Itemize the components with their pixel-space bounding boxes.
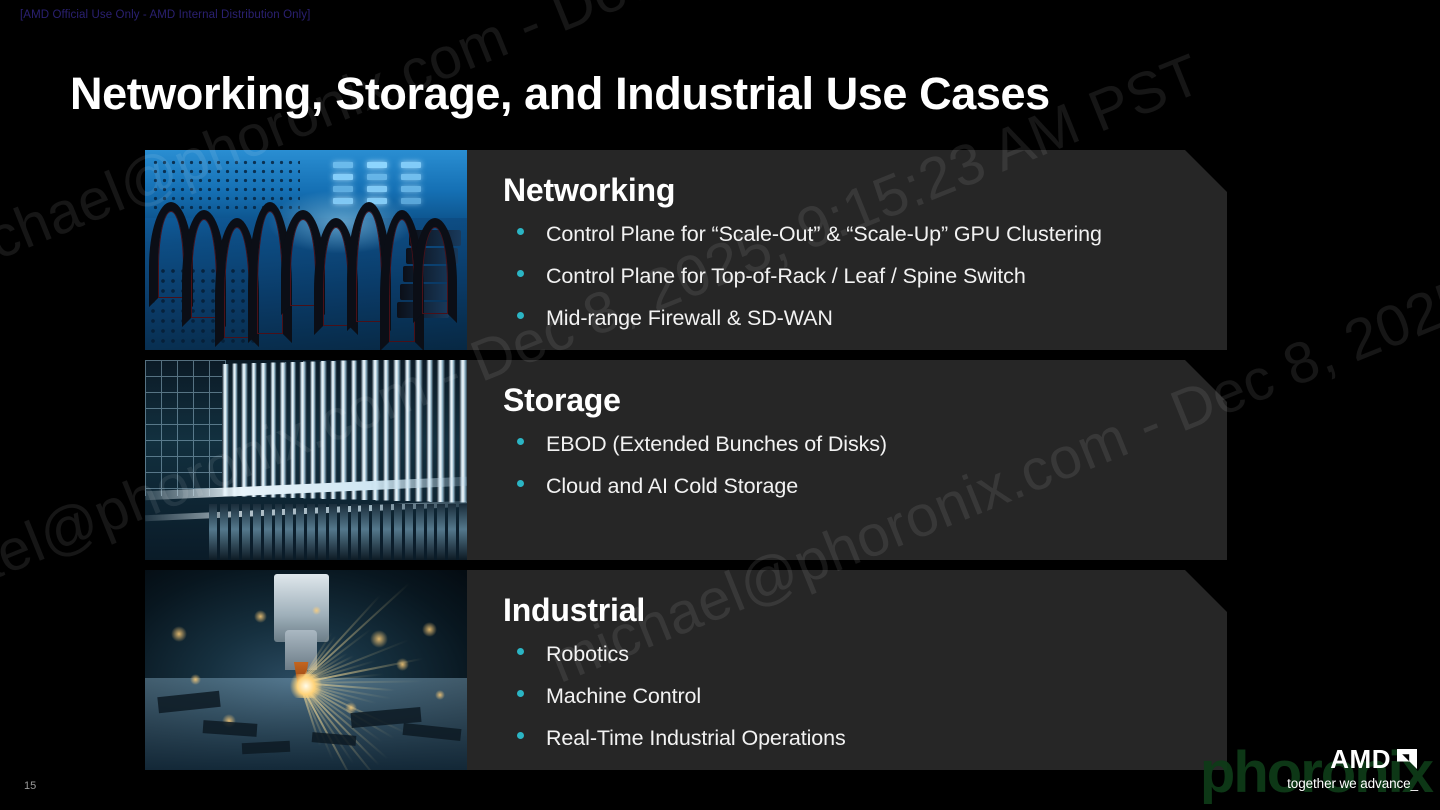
amd-arrow-icon [1396, 748, 1418, 770]
use-case-card-storage: Storage EBOD (Extended Bunches of Disks)… [145, 360, 1227, 560]
list-item: EBOD (Extended Bunches of Disks) [503, 427, 1227, 462]
bullet-text: Cloud and AI Cold Storage [546, 469, 798, 504]
storage-bullet-list: EBOD (Extended Bunches of Disks) Cloud a… [503, 427, 1227, 504]
amd-logo: AMD together we advance_ [1287, 746, 1418, 791]
card-heading-storage: Storage [503, 382, 1227, 419]
bullet-dot-icon [517, 648, 524, 655]
industrial-bullet-list: Robotics Machine Control Real-Time Indus… [503, 637, 1227, 755]
bullet-text: Mid-range Firewall & SD-WAN [546, 301, 833, 336]
networking-thumbnail [145, 150, 467, 350]
slide-page-number: 15 [24, 780, 36, 792]
storage-thumbnail [145, 360, 467, 560]
list-item: Cloud and AI Cold Storage [503, 469, 1227, 504]
bullet-dot-icon [517, 312, 524, 319]
bullet-text: EBOD (Extended Bunches of Disks) [546, 427, 887, 462]
bullet-dot-icon [517, 480, 524, 487]
bullet-dot-icon [517, 732, 524, 739]
industrial-thumbnail [145, 570, 467, 770]
page-title: Networking, Storage, and Industrial Use … [70, 68, 1050, 120]
list-item: Control Plane for Top-of-Rack / Leaf / S… [503, 259, 1227, 294]
bullet-dot-icon [517, 270, 524, 277]
amd-wordmark-text: AMD [1330, 746, 1391, 772]
amd-tagline: together we advance_ [1287, 777, 1418, 791]
networking-switch-cables-photo [145, 150, 467, 350]
list-item: Machine Control [503, 679, 1227, 714]
list-item: Robotics [503, 637, 1227, 672]
industrial-card-body: Industrial Robotics Machine Control Real… [467, 570, 1227, 770]
amd-wordmark: AMD [1287, 746, 1418, 772]
bullet-text: Real-Time Industrial Operations [546, 721, 846, 756]
networking-bullet-list: Control Plane for “Scale-Out” & “Scale-U… [503, 217, 1227, 335]
card-heading-industrial: Industrial [503, 592, 1227, 629]
list-item: Control Plane for “Scale-Out” & “Scale-U… [503, 217, 1227, 252]
bullet-dot-icon [517, 438, 524, 445]
storage-disk-array-photo [145, 360, 467, 560]
list-item: Real-Time Industrial Operations [503, 721, 1227, 756]
storage-card-body: Storage EBOD (Extended Bunches of Disks)… [467, 360, 1227, 560]
list-item: Mid-range Firewall & SD-WAN [503, 301, 1227, 336]
bullet-dot-icon [517, 228, 524, 235]
networking-card-body: Networking Control Plane for “Scale-Out”… [467, 150, 1227, 350]
bullet-text: Robotics [546, 637, 629, 672]
use-case-card-list: Networking Control Plane for “Scale-Out”… [145, 150, 1227, 780]
use-case-card-industrial: Industrial Robotics Machine Control Real… [145, 570, 1227, 770]
bullet-dot-icon [517, 690, 524, 697]
bullet-text: Control Plane for Top-of-Rack / Leaf / S… [546, 259, 1026, 294]
card-heading-networking: Networking [503, 172, 1227, 209]
bullet-text: Control Plane for “Scale-Out” & “Scale-U… [546, 217, 1102, 252]
classification-banner: [AMD Official Use Only - AMD Internal Di… [20, 9, 310, 21]
use-case-card-networking: Networking Control Plane for “Scale-Out”… [145, 150, 1227, 350]
presentation-slide: [AMD Official Use Only - AMD Internal Di… [0, 0, 1440, 810]
industrial-laser-cutting-photo [145, 570, 467, 770]
bullet-text: Machine Control [546, 679, 701, 714]
